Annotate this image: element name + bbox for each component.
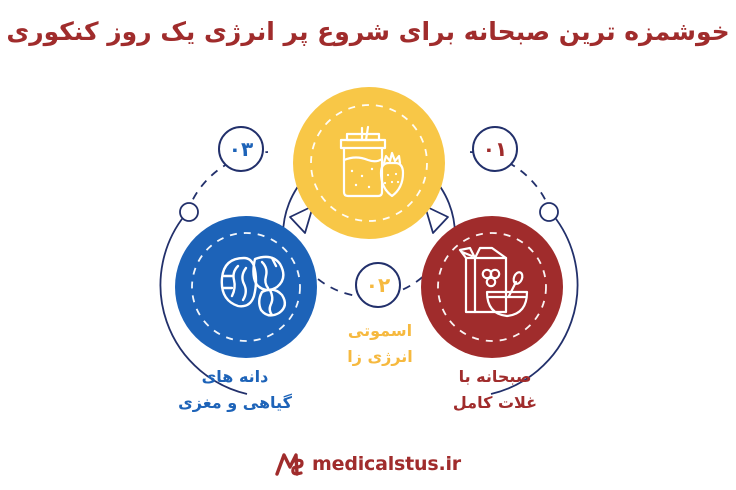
step-caption-03: دانه های گیاهی و مغزی xyxy=(142,364,328,416)
step-circle-blue[interactable] xyxy=(175,216,317,358)
step-caption-01-line1: صبحانه با xyxy=(420,364,570,390)
step-number-badge-02: ۰۲ xyxy=(355,262,401,308)
arc-endpoint-dot-right xyxy=(540,203,558,221)
yellow-circle-disc xyxy=(293,87,445,239)
step-circle-yellow[interactable] xyxy=(293,87,445,239)
brand-text: medicalstus.ir xyxy=(312,453,461,475)
arc-endpoint-dot-left xyxy=(180,203,198,221)
footer-brand[interactable]: medicalstus.ir xyxy=(0,452,736,476)
step-caption-02: اسموتی انرژی زا xyxy=(318,318,442,370)
step-caption-03-line1: دانه های xyxy=(142,364,328,390)
step-caption-01-line2: غلات کامل xyxy=(420,390,570,416)
step-number-badge-03: ۰۳ xyxy=(218,126,264,172)
step-caption-02-line2: انرژی زا xyxy=(318,344,442,370)
step-number-badge-01: ۰۱ xyxy=(472,126,518,172)
infographic-canvas: خوشمزه ترین صبحانه برای شروع پر انرژی یک… xyxy=(0,0,736,490)
step-caption-01: صبحانه با غلات کامل xyxy=(420,364,570,416)
infographic-artwork xyxy=(0,0,736,490)
step-caption-02-line1: اسموتی xyxy=(318,318,442,344)
step-circle-red[interactable] xyxy=(421,216,563,358)
ms-monogram-logo-icon xyxy=(275,452,305,476)
step-caption-03-line2: گیاهی و مغزی xyxy=(142,390,328,416)
